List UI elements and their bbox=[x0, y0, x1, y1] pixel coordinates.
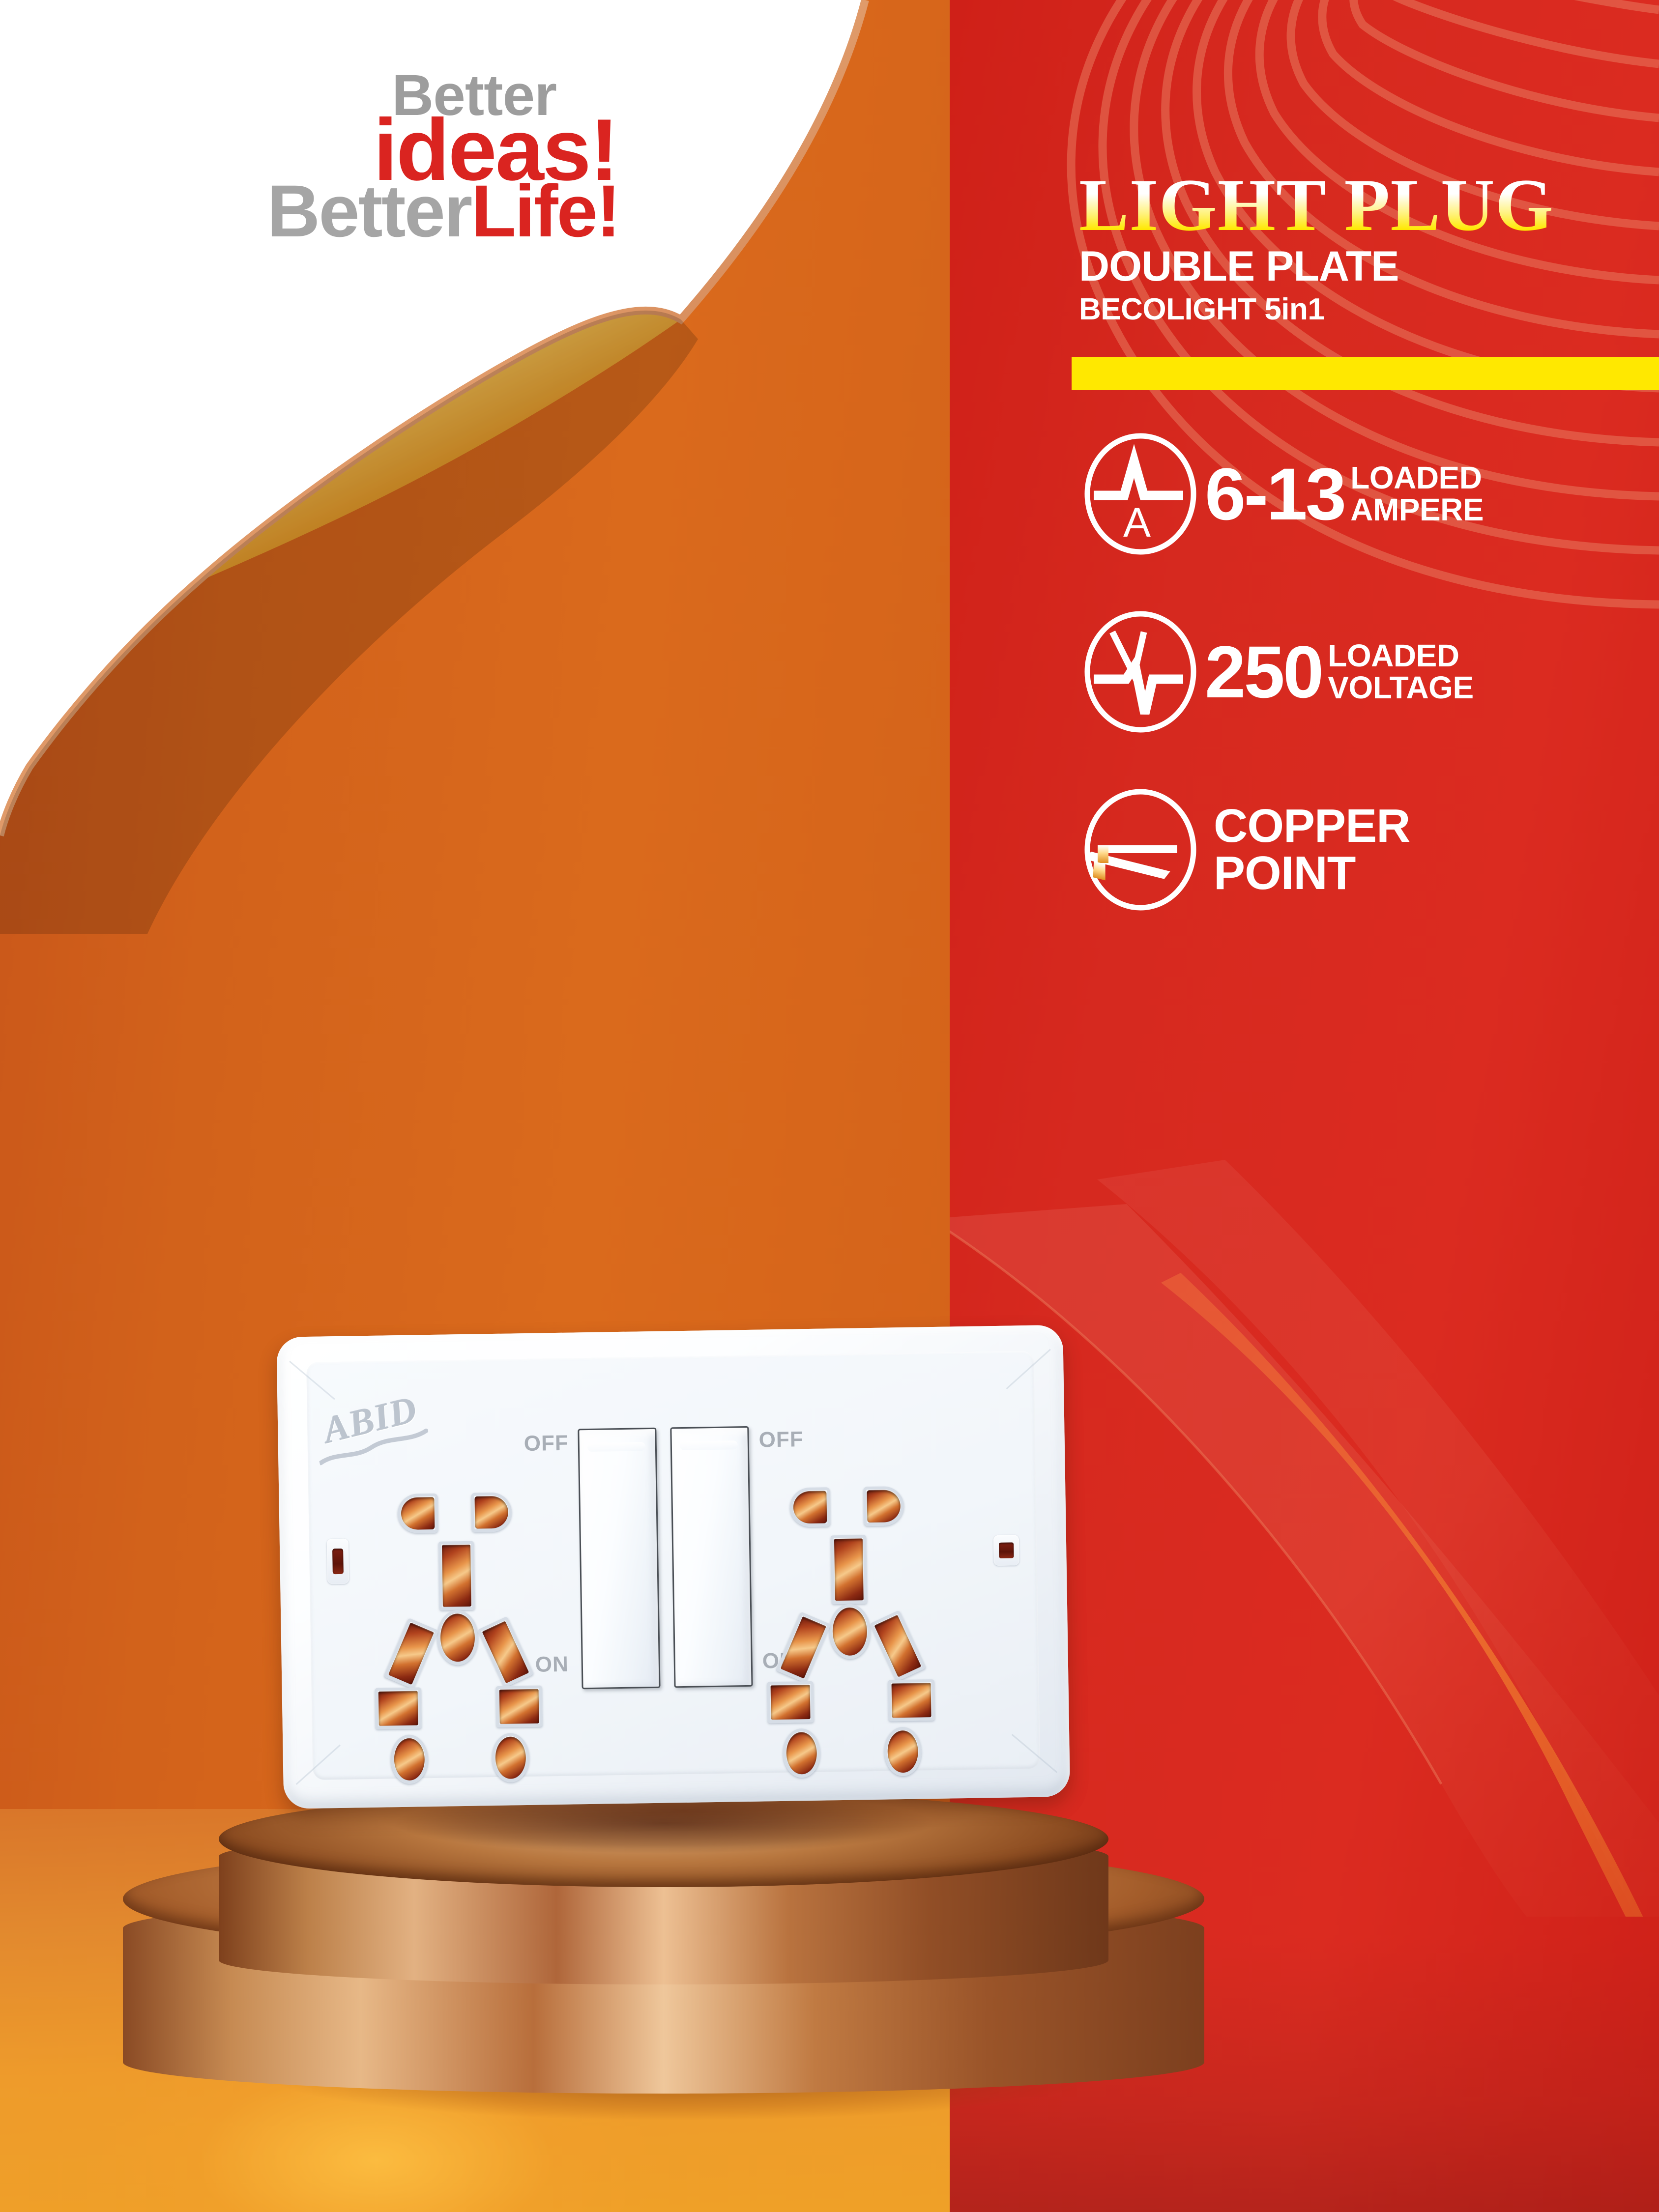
socket-right-bottom-pin-right bbox=[887, 1730, 918, 1773]
socket-left-square-contact-left bbox=[378, 1691, 418, 1726]
spec-value-voltage: 250 bbox=[1205, 639, 1322, 705]
spec-labels-voltage: LOADED VOLTAGE bbox=[1328, 640, 1473, 704]
socket-plate-product: ABID OFF ON OFF ON bbox=[262, 1316, 1105, 1835]
socket-left-earth-slot bbox=[442, 1545, 471, 1607]
slogan-line-3-gray: Better bbox=[267, 170, 471, 252]
spec-label-copper-line2: POINT bbox=[1214, 850, 1410, 897]
product-title-block: LIGHT PLUG DOUBLE PLATE BECOLIGHT 5in1 bbox=[1079, 170, 1659, 325]
slogan-line-3: BetterLife! bbox=[128, 177, 619, 245]
spec-labels-copper-point: COPPER POINT bbox=[1214, 803, 1410, 897]
svg-text:A: A bbox=[1123, 499, 1151, 546]
copper-pin-icon bbox=[1079, 788, 1202, 911]
product-poster: Better ideas! BetterLife! LIGHT PLUG DOU… bbox=[0, 0, 1659, 2212]
switch-1-on-label: ON bbox=[535, 1652, 569, 1677]
socket-faceplate: ABID OFF ON OFF ON bbox=[276, 1325, 1070, 1809]
spec-badge-list: A 6-13 LOADED AMPERE 250 bbox=[1079, 432, 1659, 911]
voltage-meter-icon bbox=[1079, 610, 1202, 733]
socket-right-center-round bbox=[832, 1607, 868, 1656]
socket-right-square-contact-right bbox=[892, 1683, 931, 1718]
spec-item-ampere: A 6-13 LOADED AMPERE bbox=[1079, 432, 1659, 555]
spec-body-voltage: 250 LOADED VOLTAGE bbox=[1205, 639, 1474, 705]
socket-left-contact-top-left bbox=[401, 1497, 435, 1530]
product-subtitle: DOUBLE PLATE bbox=[1079, 245, 1659, 287]
spec-labels-ampere: LOADED AMPERE bbox=[1350, 462, 1484, 526]
spec-item-voltage: 250 LOADED VOLTAGE bbox=[1079, 610, 1659, 733]
socket-right-square-contact-left bbox=[771, 1685, 811, 1720]
switch-1-off-label: OFF bbox=[524, 1431, 569, 1456]
socket-right-bottom-pin-left bbox=[786, 1732, 817, 1775]
yellow-divider-bar bbox=[1072, 357, 1659, 390]
spec-value-ampere: 6-13 bbox=[1205, 461, 1344, 527]
spec-label-ampere-line2: AMPERE bbox=[1350, 494, 1484, 526]
mounting-screw-left bbox=[327, 1539, 349, 1584]
switch-2-off-label: OFF bbox=[758, 1427, 804, 1452]
brand-slogan: Better ideas! BetterLife! bbox=[128, 69, 619, 245]
ampere-meter-icon: A bbox=[1079, 432, 1202, 555]
socket-right-contact-top-left bbox=[793, 1491, 827, 1523]
page-title: LIGHT PLUG bbox=[1079, 170, 1554, 241]
spec-label-copper-line1: COPPER bbox=[1214, 803, 1410, 850]
rocker-switch-1[interactable] bbox=[578, 1428, 660, 1689]
socket-left-bottom-pin-right bbox=[495, 1736, 526, 1779]
socket-right-earth-slot bbox=[834, 1538, 864, 1601]
spec-label-voltage-line1: LOADED bbox=[1328, 640, 1473, 672]
spec-label-ampere-line1: LOADED bbox=[1350, 462, 1484, 494]
product-model-name: BECOLIGHT 5in1 bbox=[1079, 294, 1659, 325]
slogan-line-3-red: Life! bbox=[471, 170, 619, 252]
spec-body-ampere: 6-13 LOADED AMPERE bbox=[1205, 461, 1484, 527]
spec-item-copper-point: COPPER POINT bbox=[1079, 788, 1659, 911]
socket-left-bottom-pin-left bbox=[394, 1738, 425, 1781]
rocker-switch-2[interactable] bbox=[670, 1426, 753, 1688]
socket-left-square-contact-right bbox=[499, 1689, 539, 1724]
spec-label-voltage-line2: VOLTAGE bbox=[1328, 672, 1473, 704]
mounting-screw-right bbox=[993, 1535, 1019, 1566]
